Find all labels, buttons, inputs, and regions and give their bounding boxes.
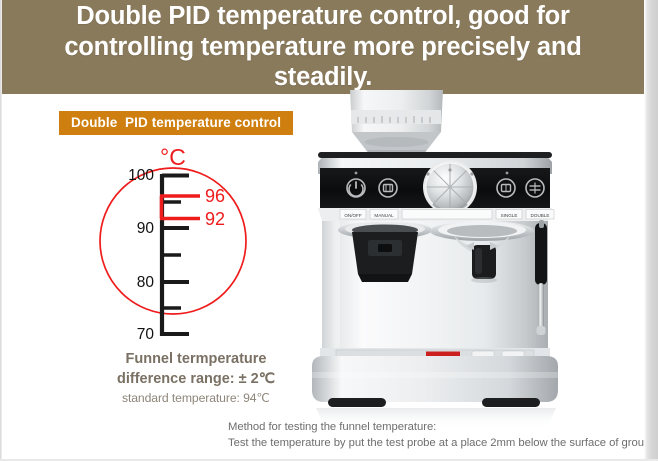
panel-label-manual: MANUAL	[374, 213, 394, 218]
machine-base	[312, 356, 558, 407]
hopper-grind-scale	[351, 110, 441, 124]
grinder-hopper	[350, 90, 443, 156]
scale-label-100: 100	[128, 167, 154, 184]
base-foot-right	[482, 398, 540, 407]
scale-label-80: 80	[137, 274, 155, 291]
scale-label-70: 70	[137, 326, 155, 343]
label-box-blank	[402, 210, 492, 220]
base-foot-left	[328, 398, 386, 407]
thermometer-diagram: 100 90 80 70 96 92 °C	[96, 143, 286, 348]
panel-label-strip: ON/OFF MANUAL SINGLE DOUBLE	[318, 208, 554, 221]
method-note-line-2: Test the temperature by put the test pro…	[228, 435, 658, 451]
scale-label-90: 90	[137, 220, 155, 237]
caption-line-2: difference range: ± 2℃	[78, 370, 314, 390]
panel-label-double: DOUBLE	[531, 213, 550, 218]
marker-label-92: 92	[205, 209, 225, 229]
panel-label-single: SINGLE	[501, 213, 518, 218]
caption-line-1: Funnel termperature	[78, 350, 314, 370]
panel-label-onoff: ON/OFF	[344, 213, 362, 218]
headline-banner: Double PID temperature control, good for…	[2, 0, 644, 94]
feature-badge: Double PID temperature control	[59, 111, 293, 135]
method-note-line-1: Method for testing the funnel temperatur…	[228, 419, 658, 435]
celsius-unit-label: °C	[160, 144, 186, 170]
method-note: Method for testing the funnel temperatur…	[228, 419, 658, 451]
page-edge-right	[644, 0, 658, 461]
thermometer-caption: Funnel termperature difference range: ± …	[78, 350, 314, 405]
marker-label-96: 96	[205, 186, 225, 206]
espresso-machine-photo: ON/OFF MANUAL SINGLE DOUBLE	[300, 90, 658, 435]
product-infographic-page: Double PID temperature control, good for…	[0, 0, 658, 461]
dial-knob[interactable]	[423, 160, 477, 214]
headline-text: Double PID temperature control, good for…	[20, 1, 626, 94]
caption-standard-temperature: standard temperature: 94℃	[78, 391, 314, 405]
control-panel	[320, 160, 550, 214]
